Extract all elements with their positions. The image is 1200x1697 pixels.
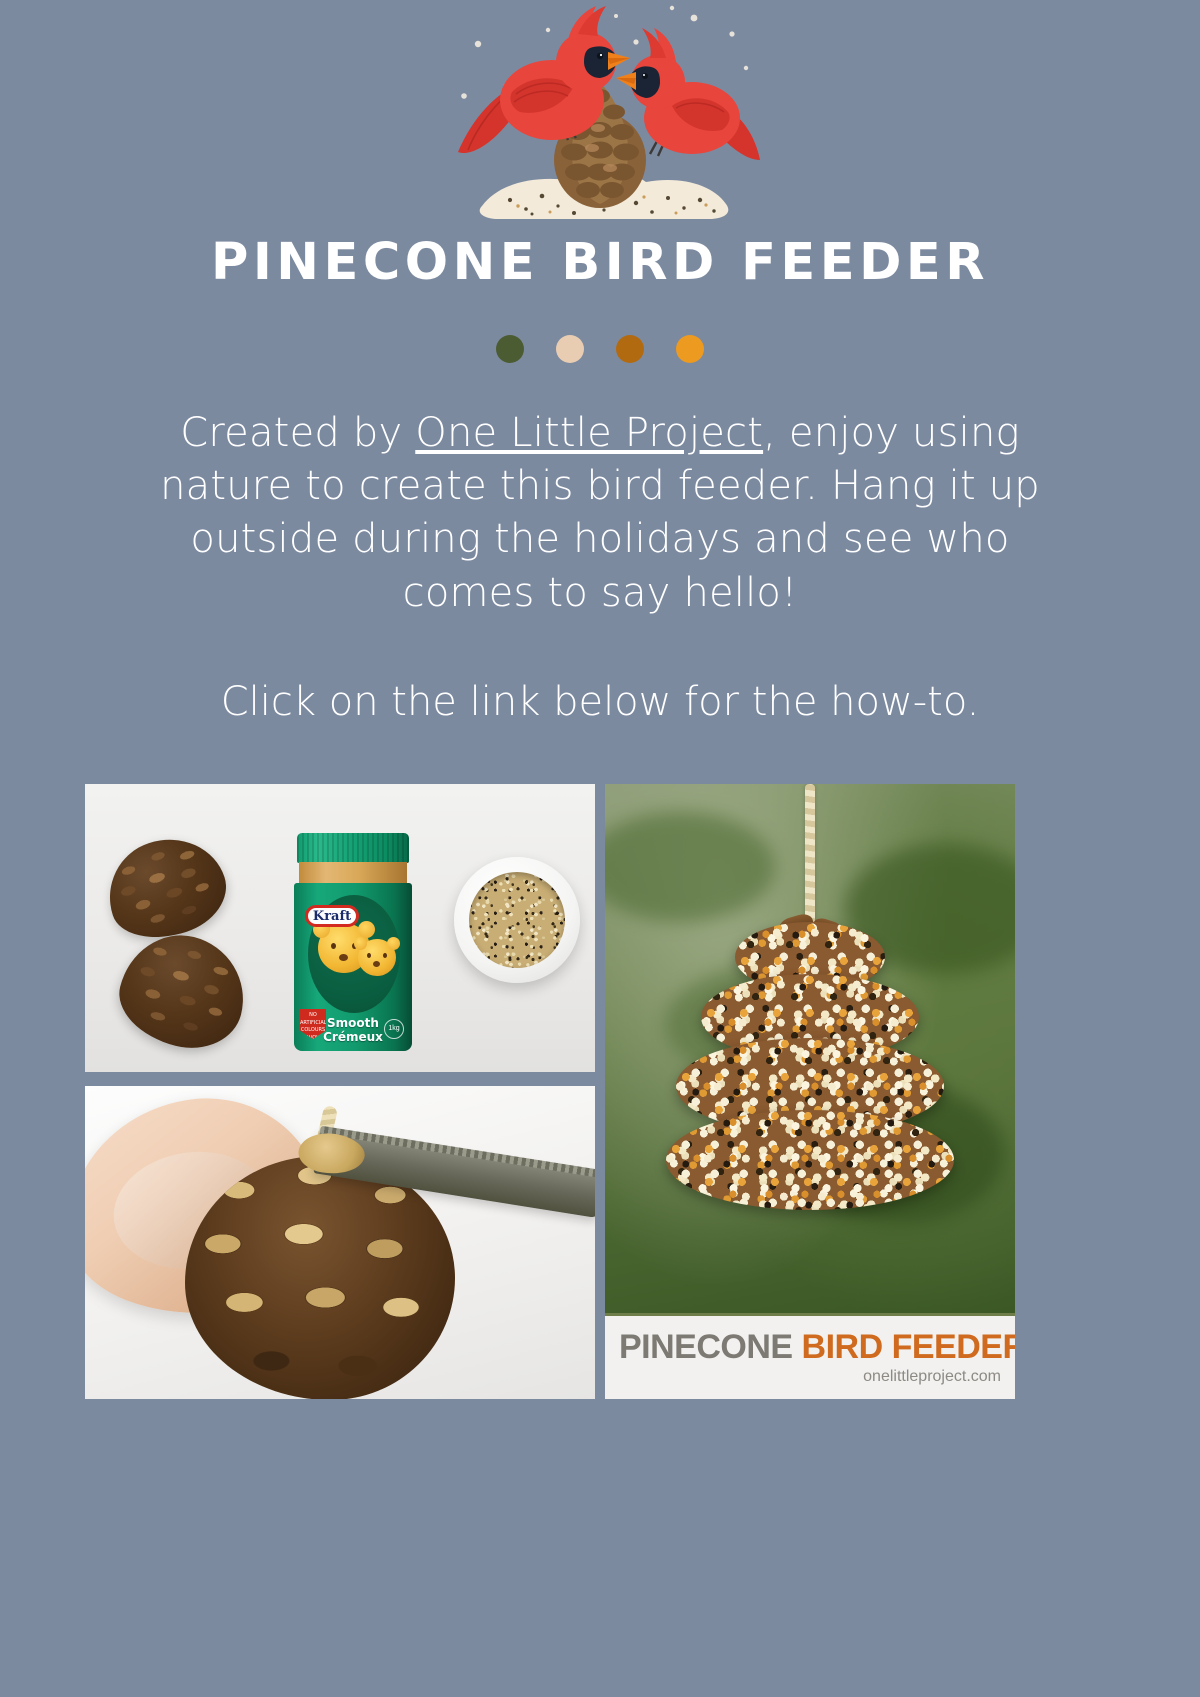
pinecone-bottom [110,923,257,1060]
collage-gap-vertical [595,784,605,1072]
dot-divider [0,335,1200,363]
cardinals-on-pinecone-icon [440,0,760,222]
intro-copy: Created by One Little Project, enjoy usi… [120,407,1080,729]
watermark-title-part2: BIRD FEEDERS [802,1328,1015,1366]
watermark-url: onelittleproject.com [619,1368,1001,1386]
jar-label: Kraft NO ARTIFICIAL COLOURS FLAVOURS 1kg… [294,883,412,1051]
pinecone-top [95,824,237,952]
jar-flavour-fr: Crémeux [294,1031,412,1045]
dot-orange [676,335,704,363]
watermark-title-part1: PINECONE [619,1328,793,1366]
dot-beige [556,335,584,363]
photo-collage: Kraft NO ARTIFICIAL COLOURS FLAVOURS 1kg… [85,784,1115,1399]
watermark-title: PINECONE BIRD FEEDERS [619,1330,1001,1364]
collage-gap-horizontal [85,1072,595,1086]
pinecone-coated [185,1156,455,1399]
seed-covered-pinecone [660,916,960,1236]
birdseed-bowl [454,857,580,983]
photo-supplies[interactable]: Kraft NO ARTIFICIAL COLOURS FLAVOURS 1kg… [85,784,595,1072]
dot-olive [496,335,524,363]
jar-flavour-text: Smooth Crémeux [294,1017,412,1045]
one-little-project-link[interactable]: One Little Project [415,410,763,456]
bear-small-icon [358,939,396,976]
intro-paragraph: Created by One Little Project, enjoy usi… [120,407,1080,620]
hanging-twine [805,784,815,929]
kraft-logo: Kraft [305,905,359,927]
peanut-butter-jar: Kraft NO ARTIFICIAL COLOURS FLAVOURS 1kg… [294,833,412,1051]
feeder-tier [666,1110,954,1210]
dot-copper [616,335,644,363]
page-title: PINECONE BIRD FEEDER [0,225,1200,288]
jar-lid [297,833,409,863]
jar-flavour-en: Smooth [294,1017,412,1031]
cta-text: Click on the link below for the how-to. [120,676,1080,729]
background-foliage [605,812,775,922]
photo-spreading-peanut-butter[interactable] [85,1086,595,1399]
birdseed [469,872,565,968]
hero-illustration [0,0,1200,225]
jar-neck [299,862,407,884]
intro-lead: Created by [180,410,415,456]
watermark-banner: PINECONE BIRD FEEDERS onelittleproject.c… [605,1313,1015,1399]
photo-finished-feeder[interactable]: PINECONE BIRD FEEDERS onelittleproject.c… [605,784,1015,1399]
